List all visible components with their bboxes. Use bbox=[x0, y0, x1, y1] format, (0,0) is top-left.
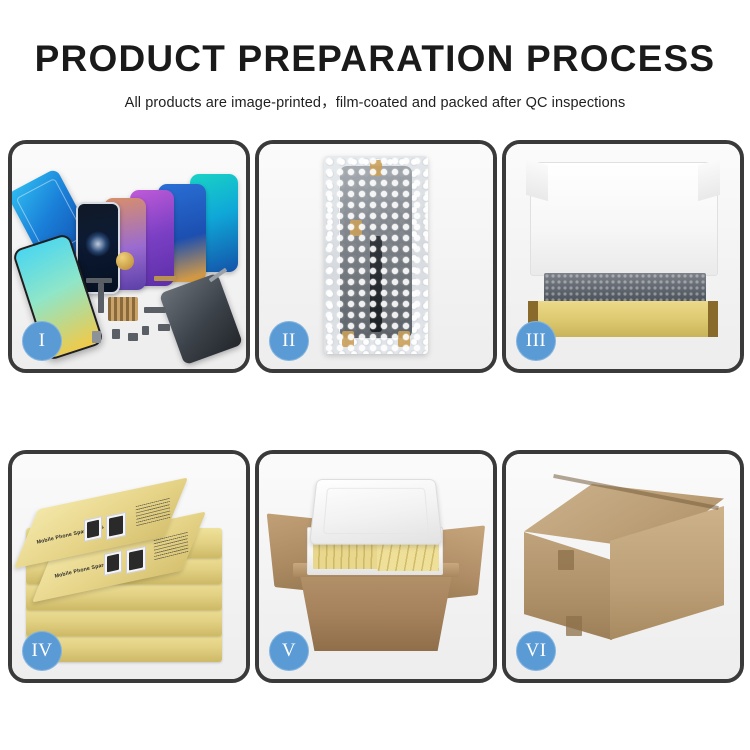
process-step-panel-5: V bbox=[255, 450, 497, 683]
spare-part-small-5 bbox=[158, 324, 170, 331]
page-title: PRODUCT PREPARATION PROCESS bbox=[0, 40, 750, 79]
tape-piece-top bbox=[370, 160, 382, 176]
spare-part-flex-1 bbox=[98, 283, 104, 313]
retail-box-stack: Mobile Phone Spare Parts Mobile Phone Sp… bbox=[26, 480, 232, 662]
step-badge-1: I bbox=[22, 321, 62, 361]
phone-back-housing bbox=[159, 273, 243, 366]
step-badge-6: VI bbox=[516, 631, 556, 671]
screen-flex-cable bbox=[370, 236, 382, 332]
page-subtitle: All products are image-printed，film-coat… bbox=[0, 91, 750, 112]
carton-tape-lower bbox=[566, 616, 582, 636]
step-badge-4: IV bbox=[22, 631, 62, 671]
spare-part-flex-2 bbox=[144, 307, 166, 313]
step-badge-5: V bbox=[269, 631, 309, 671]
retail-box-layer-2 bbox=[26, 606, 222, 636]
step-badge-2: II bbox=[269, 321, 309, 361]
step-badge-3: III bbox=[516, 321, 556, 361]
box-lid-white bbox=[530, 162, 718, 276]
retail-box-window-upper-2 bbox=[106, 512, 126, 540]
process-step-grid: I II bbox=[8, 140, 744, 683]
spare-part-small-3 bbox=[142, 326, 149, 335]
product-preparation-infographic: PRODUCT PREPARATION PROCESS All products… bbox=[0, 0, 750, 750]
speaker-component-icon bbox=[116, 252, 134, 270]
carton-tape-upper bbox=[558, 550, 574, 570]
foam-box-lid bbox=[309, 479, 443, 545]
process-step-panel-3: III bbox=[502, 140, 744, 373]
retail-box-window-upper-1 bbox=[84, 516, 102, 542]
process-step-panel-4: Mobile Phone Spare Parts Mobile Phone Sp… bbox=[8, 450, 250, 683]
box-lid-flap-right bbox=[698, 159, 720, 201]
kraft-box-tray bbox=[528, 301, 718, 337]
process-step-panel-2: II bbox=[255, 140, 497, 373]
spare-part-small-1 bbox=[112, 329, 120, 339]
carton-body bbox=[299, 569, 453, 651]
tape-piece-bottom-left bbox=[342, 331, 354, 347]
retail-box-window-lower-2 bbox=[126, 546, 146, 574]
process-step-panel-1: I bbox=[8, 140, 250, 373]
spare-part-small-2 bbox=[128, 333, 138, 341]
tape-piece-mid bbox=[350, 220, 362, 236]
tape-piece-bottom-right bbox=[398, 331, 410, 347]
retail-box-window-lower-1 bbox=[104, 550, 122, 576]
spare-part-small-4 bbox=[92, 331, 101, 343]
header: PRODUCT PREPARATION PROCESS All products… bbox=[0, 40, 750, 112]
chip-connector-grid-icon bbox=[108, 297, 138, 321]
spare-part-strip-2 bbox=[154, 276, 176, 281]
box-lid-flap-left bbox=[526, 159, 548, 201]
process-step-panel-6: VI bbox=[502, 450, 744, 683]
kraft-box-corner-right bbox=[708, 301, 718, 337]
